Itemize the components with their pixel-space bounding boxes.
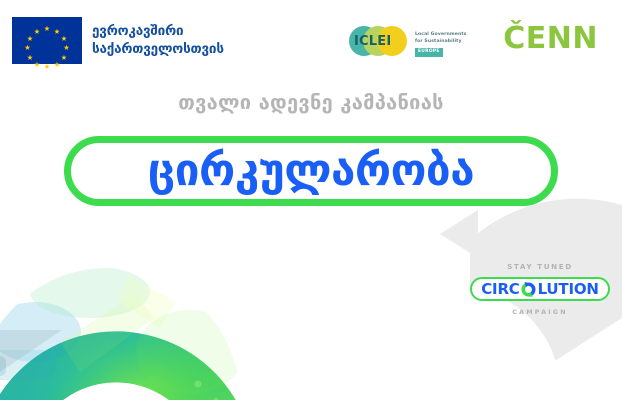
circolution-prefix: CIRC [481, 282, 519, 297]
recycle-circle-icon [520, 281, 537, 298]
iclei-logo: ICLEI Local Governments for Sustainabili… [349, 24, 466, 58]
page-title: ცირკულარობა [148, 149, 474, 193]
circolution-lockup: STAY TUNED CIRC LUTION CAMPAIGN [466, 262, 614, 316]
circolution-wordmark: CIRC LUTION [481, 281, 598, 298]
hero-title-pill: ცირკულარობა [64, 136, 558, 206]
iclei-circles-icon: ICLEI [349, 24, 409, 58]
poster-canvas: ★ ★ ★ ★ ★ ★ ★ ★ ★ ★ ★ ★ ევროკავშირი საქა… [0, 0, 622, 400]
stay-tuned-label: STAY TUNED [466, 262, 614, 271]
iclei-wordmark: ICLEI [354, 34, 391, 49]
eu-logo: ★ ★ ★ ★ ★ ★ ★ ★ ★ ★ ★ ★ ევროკავშირი საქა… [12, 17, 224, 64]
eu-logo-label: ევროკავშირი საქართველოსთვის [92, 23, 224, 58]
campaign-label: CAMPAIGN [466, 308, 614, 316]
iclei-tagline-block: Local Governments for Sustainability EUR… [415, 25, 466, 57]
eu-flag-icon: ★ ★ ★ ★ ★ ★ ★ ★ ★ ★ ★ ★ [12, 17, 82, 64]
iclei-region-badge: EUROPE [415, 48, 443, 58]
header-logo-bar: ★ ★ ★ ★ ★ ★ ★ ★ ★ ★ ★ ★ ევროკავშირი საქა… [0, 0, 622, 88]
hero-subtitle: თვალი ადევნე კამპანიას [0, 90, 622, 114]
cenn-logo: ČENN [503, 24, 598, 54]
recycle-arrow-arc [0, 232, 320, 400]
iclei-tagline: Local Governments for Sustainability [415, 32, 466, 44]
circolution-logo: CIRC LUTION [470, 277, 609, 301]
circolution-suffix: LUTION [538, 282, 599, 297]
